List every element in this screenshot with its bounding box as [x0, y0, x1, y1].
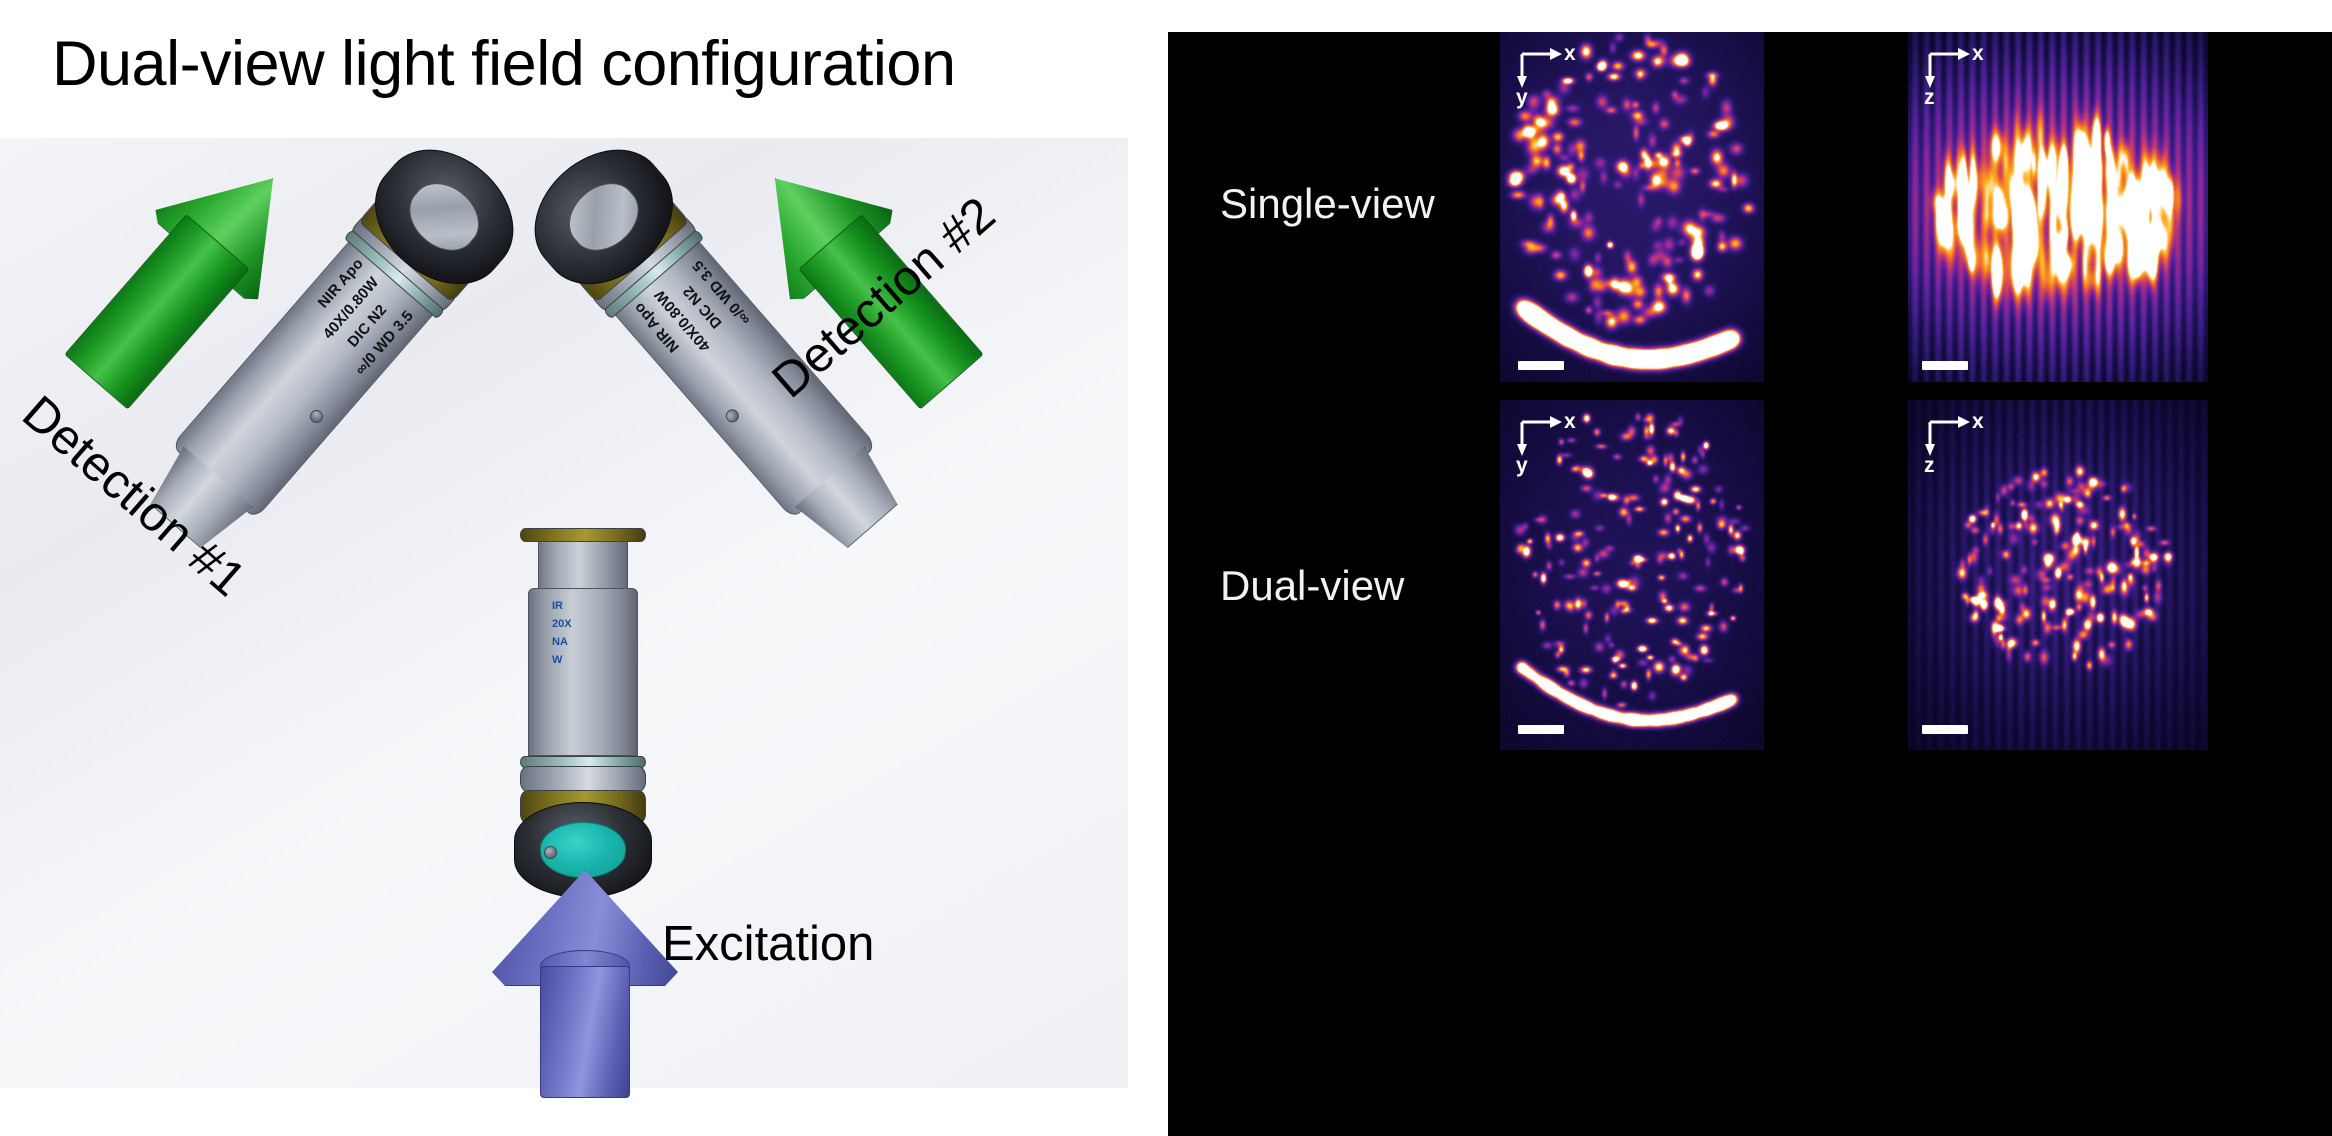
objective-2-lens-glass [556, 170, 651, 264]
row-label-single-view: Single-view [1220, 180, 1435, 228]
single-view-xz-panel: x z [1908, 32, 2208, 382]
axis-indicator-xy-1: x y [1516, 42, 1588, 114]
excitation-engraving-line2: 20X [552, 618, 572, 630]
objective-1-lens-glass [397, 170, 492, 264]
excitation-objective-collar-olive [520, 528, 646, 542]
scalebar-dual-view-xz [1922, 725, 1968, 734]
excitation-arrow [492, 870, 678, 1096]
single-view-xy-panel: x y [1500, 32, 1764, 382]
axis-label-horizontal: x [1564, 410, 1576, 434]
scalebar-single-view-xy [1518, 361, 1564, 370]
microscopy-panel: Single-view Dual-view x y x [1168, 32, 2332, 1136]
axis-arrows-icon [1924, 42, 1996, 114]
page-title: Dual-view light field configuration [52, 28, 955, 100]
scalebar-single-view-xz [1922, 361, 1968, 370]
axis-label-vertical: z [1924, 454, 1935, 478]
dual-view-xz-panel: x z [1908, 400, 2208, 750]
axis-label-vertical: z [1924, 86, 1935, 110]
dual-view-xy-panel: x y [1500, 400, 1764, 750]
excitation-objective-screw [544, 846, 557, 859]
axis-label-vertical: y [1516, 454, 1528, 478]
excitation-arrow-shaft [540, 966, 630, 1098]
row-label-dual-view: Dual-view [1220, 562, 1404, 610]
axis-indicator-xz-2: x z [1924, 410, 1996, 482]
excitation-label: Excitation [662, 916, 874, 972]
axis-label-horizontal: x [1972, 42, 1984, 66]
excitation-engraving-line4: W [552, 654, 562, 666]
axis-label-horizontal: x [1564, 42, 1576, 66]
excitation-engraving-line3: NA [552, 636, 568, 648]
axis-arrows-icon [1924, 410, 1996, 482]
excitation-engraving-line1: IR [552, 600, 563, 612]
scalebar-dual-view-xy [1518, 725, 1564, 734]
axis-label-horizontal: x [1972, 410, 1984, 434]
axis-label-vertical: y [1516, 86, 1528, 110]
excitation-objective-ring-grey [520, 766, 646, 792]
schematic-panel: Dual-view light field configuration NIR … [0, 0, 1168, 1136]
axis-indicator-xz-1: x z [1924, 42, 1996, 114]
excitation-objective-barrel [528, 588, 638, 756]
axis-indicator-xy-2: x y [1516, 410, 1588, 482]
